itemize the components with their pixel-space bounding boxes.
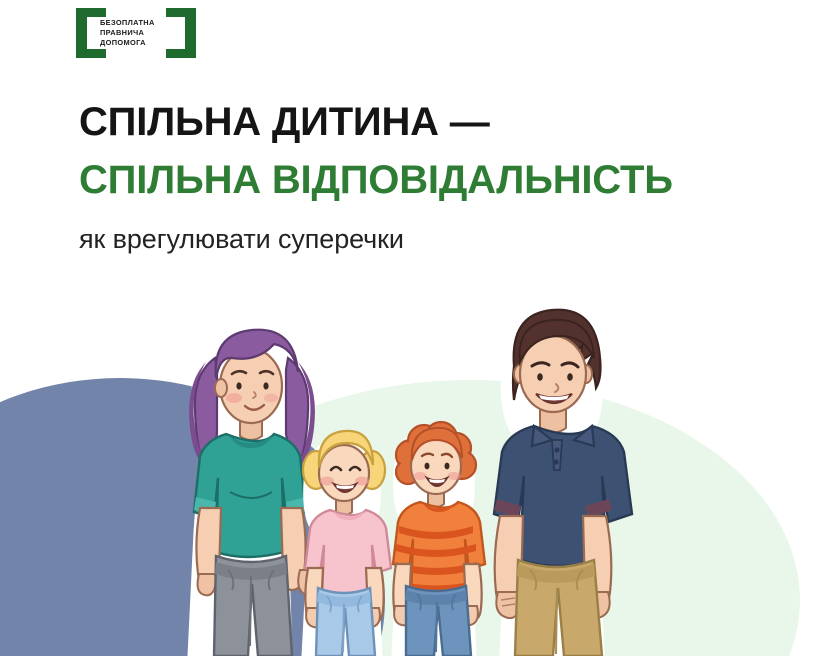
mother-face xyxy=(220,349,282,423)
father-polo-button-1 xyxy=(554,447,559,452)
poster-root: БЕЗОПЛАТНА ПРАВНИЧА ДОПОМОГА СПІЛЬНА ДИТ… xyxy=(0,0,820,656)
logo-text: БЕЗОПЛАТНА ПРАВНИЧА ДОПОМОГА xyxy=(100,17,176,49)
logo-line-2: ПРАВНИЧА xyxy=(100,28,144,38)
subtitle: як врегулювати суперечки xyxy=(79,224,404,255)
family-illustration xyxy=(0,270,820,656)
figure-son xyxy=(393,422,485,656)
father-polo-button-2 xyxy=(553,459,558,464)
figure-daughter xyxy=(303,431,391,656)
headline-line-2: СПІЛЬНА ВІДПОВІДАЛЬНІСТЬ xyxy=(79,160,673,200)
logo-line-3: ДОПОМОГА xyxy=(100,38,146,48)
bpd-logo: БЕЗОПЛАТНА ПРАВНИЧА ДОПОМОГА xyxy=(76,8,196,58)
logo-line-1: БЕЗОПЛАТНА xyxy=(100,18,155,28)
headline-line-1: СПІЛЬНА ДИТИНА — xyxy=(79,102,490,142)
